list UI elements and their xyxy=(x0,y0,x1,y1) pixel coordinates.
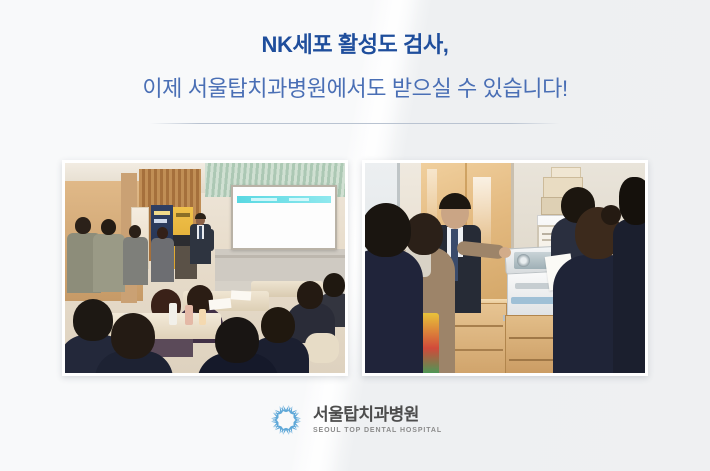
attendee-body xyxy=(365,249,423,373)
paper-handout xyxy=(231,290,252,300)
photo-equipment-demo xyxy=(362,160,648,376)
projection-screen-text-line xyxy=(289,198,309,201)
logo-korean-name: 서울탑치과병원 xyxy=(313,405,442,424)
banner-text xyxy=(176,213,190,217)
title-line-1: NK세포 활성도 검사, xyxy=(0,28,710,62)
attendee-body xyxy=(613,219,645,373)
logo-text-block: 서울탑치과병원 SEOUL TOP DENTAL HOSPITAL xyxy=(313,405,442,436)
drawer-seam xyxy=(451,325,503,327)
heading-block: NK세포 활성도 검사, 이제 서울탑치과병원에서도 받으실 수 있습니다! xyxy=(0,28,710,106)
seminar-scene xyxy=(65,163,345,373)
hospital-logo: 서울탑치과병원 SEOUL TOP DENTAL HOSPITAL xyxy=(0,402,710,438)
standing-attendee-body xyxy=(123,237,148,285)
tumbler xyxy=(169,303,177,325)
projection-screen-text-line xyxy=(251,198,277,201)
standing-attendee-head xyxy=(75,217,91,234)
grey-partition-edge xyxy=(215,255,345,258)
presenter-arm xyxy=(207,229,214,251)
attendee-head xyxy=(365,203,411,257)
laptop xyxy=(173,235,191,246)
standing-attendee-body xyxy=(151,238,174,282)
analyzer-label-strip xyxy=(511,297,555,304)
lab-scene xyxy=(365,163,645,373)
banner-text xyxy=(154,219,167,223)
standing-attendee-body xyxy=(93,234,125,292)
seated-attendee-head xyxy=(323,273,345,297)
banner-text xyxy=(154,211,170,215)
seated-attendee-head xyxy=(111,313,155,359)
cup xyxy=(199,309,206,325)
photo-row xyxy=(0,160,710,376)
standing-attendee-head xyxy=(157,227,168,239)
wooden-drawer-unit xyxy=(447,303,507,373)
analyzer-slot xyxy=(515,283,551,289)
attendee-head xyxy=(619,177,645,225)
photo-seminar-room xyxy=(62,160,348,376)
presenter-tie xyxy=(199,226,202,239)
seated-attendee-head xyxy=(215,317,259,363)
cup xyxy=(185,305,193,325)
promotional-slide: NK세포 활성도 검사, 이제 서울탑치과병원에서도 받으실 수 있습니다! xyxy=(0,0,710,471)
seated-attendee-head xyxy=(297,281,323,309)
snowflake-starburst-icon xyxy=(268,402,304,438)
seated-attendee-head xyxy=(261,307,295,343)
standing-attendee-head xyxy=(101,219,116,235)
pointing-hand xyxy=(499,247,511,258)
chair xyxy=(305,333,339,363)
standing-attendee-head xyxy=(129,225,141,238)
projection-screen xyxy=(231,185,337,250)
heading-divider xyxy=(150,123,560,124)
logo-english-name: SEOUL TOP DENTAL HOSPITAL xyxy=(313,425,442,436)
drawer-seam xyxy=(451,349,503,351)
title-line-2: 이제 서울탑치과병원에서도 받으실 수 있습니다! xyxy=(0,72,710,106)
analyzer-fan xyxy=(517,254,530,267)
presenter-hair xyxy=(195,213,206,219)
seated-attendee-head xyxy=(73,299,113,341)
